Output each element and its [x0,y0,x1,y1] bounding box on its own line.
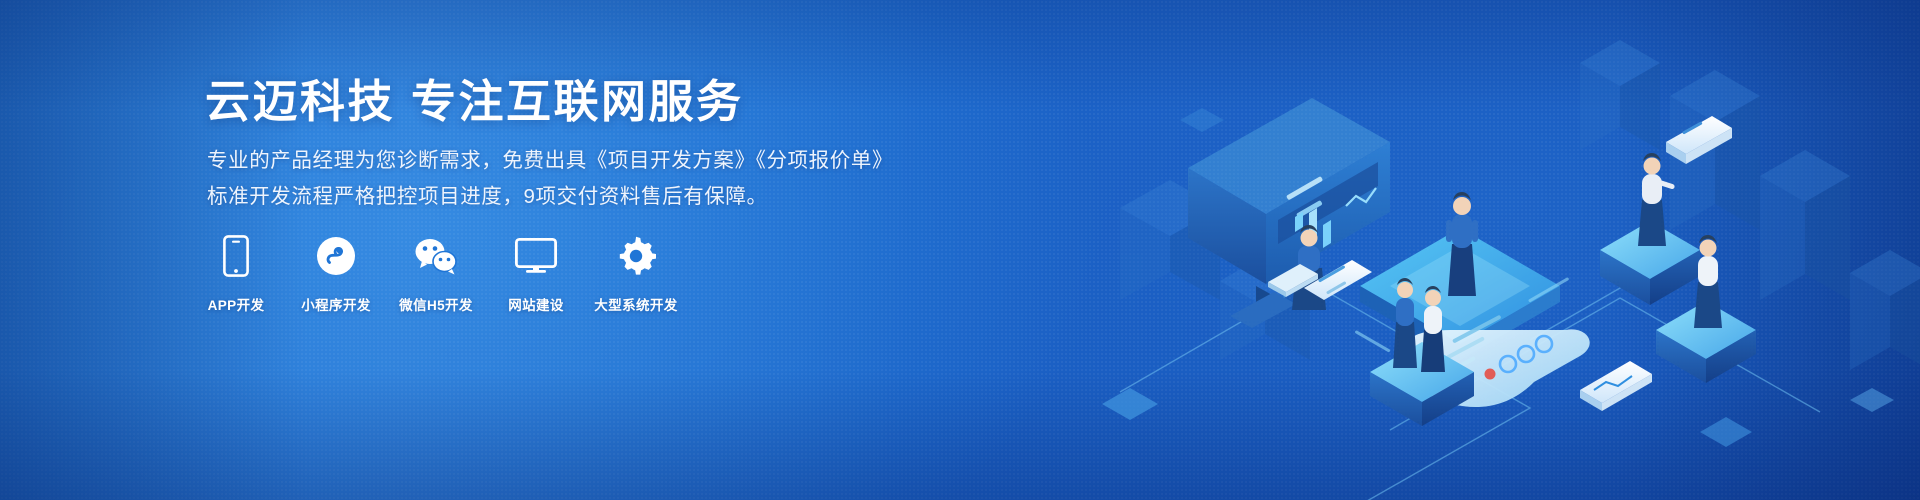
service-item-miniprogram[interactable]: 小程序开发 [305,232,367,314]
banner-content: 云迈科技专注互联网服务 专业的产品经理为您诊断需求，免费出具《项目开发方案》《分… [205,0,965,500]
monitor-icon [514,232,558,280]
hero-banner: 云迈科技专注互联网服务 专业的产品经理为您诊断需求，免费出具《项目开发方案》《分… [0,0,1920,500]
subtitle-line-2: 标准开发流程严格把控项目进度，9项交付资料售后有保障。 [207,182,768,213]
floating-chart-panel [1580,361,1652,411]
headline-tagline: 专注互联网服务 [411,76,744,127]
service-label: 微信H5开发 [399,294,473,314]
service-item-system[interactable]: 大型系统开发 [605,232,667,314]
isometric-illustration [1060,0,1920,500]
gear-icon [614,232,658,280]
subtitle-line-1: 专业的产品经理为您诊断需求，免费出具《项目开发方案》《分项报价单》 [207,146,893,177]
service-item-app[interactable]: APP开发 [205,232,267,314]
mobile-phone-icon [214,232,258,280]
person-sitting-right [1638,153,1675,246]
service-item-wechat[interactable]: 微信H5开发 [405,232,467,314]
page-title: 云迈科技专注互联网服务 [205,75,744,128]
service-label: APP开发 [208,294,265,314]
person-standing-right-lower [1694,235,1722,328]
headline-brand: 云迈科技 [205,76,395,127]
mini-program-icon [314,232,358,280]
service-label: 小程序开发 [301,294,371,314]
wechat-icon [414,232,458,280]
service-label: 大型系统开发 [594,294,677,314]
service-label: 网站建设 [508,294,564,314]
service-list: APP开发 小程序开发 [205,232,667,314]
service-item-website[interactable]: 网站建设 [505,232,567,314]
